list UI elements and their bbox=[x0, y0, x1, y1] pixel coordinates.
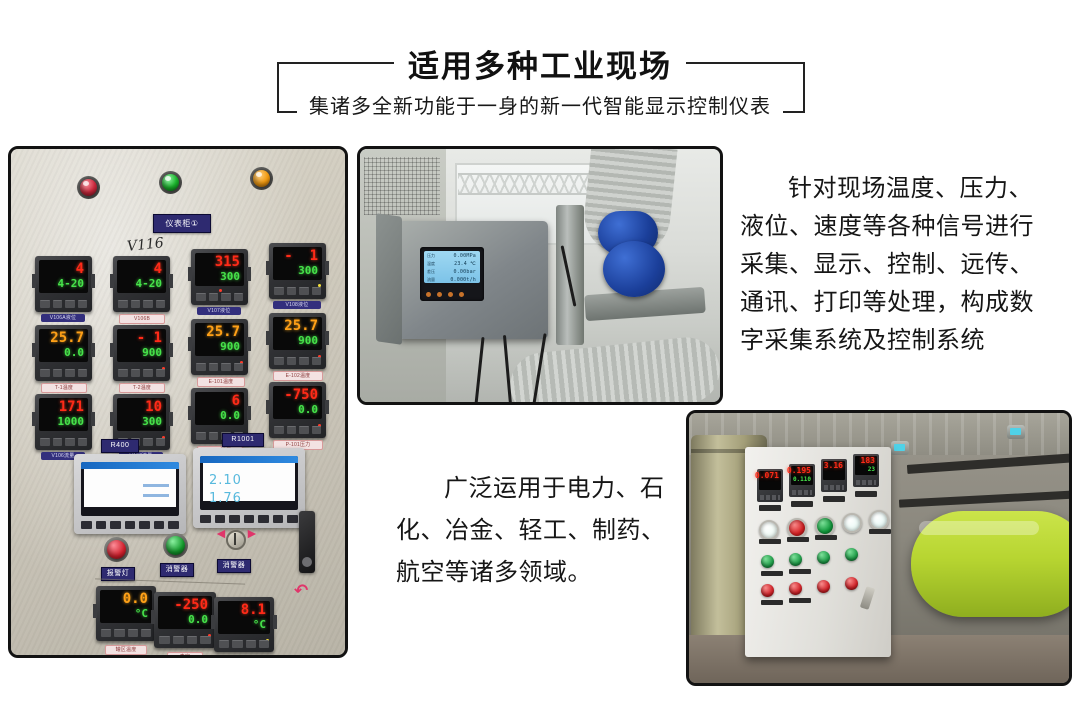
start-button-green[interactable] bbox=[845, 548, 858, 561]
stop-button-red[interactable] bbox=[761, 584, 774, 597]
button-label bbox=[761, 600, 783, 605]
explosion-proof-light bbox=[891, 441, 909, 455]
start-button-green[interactable] bbox=[817, 551, 830, 564]
meter-tag: V106B bbox=[119, 314, 165, 324]
lamp-label bbox=[787, 537, 809, 542]
meter-module[interactable]: - 1300 bbox=[269, 243, 326, 299]
indicator-lamp-green[interactable] bbox=[815, 516, 835, 536]
flow-computer-keypad[interactable] bbox=[426, 292, 464, 297]
alarm-reset-selector[interactable] bbox=[226, 530, 246, 550]
photo-field-flowmeter[interactable]: 压力 0.00MPa 温度 23.4 ℃ 差压 0.00bar 流量 0.000… bbox=[357, 146, 723, 405]
lcd-value: 0.00MPa bbox=[454, 253, 476, 259]
flow-computer[interactable]: 压力 0.00MPa 温度 23.4 ℃ 差压 0.00bar 流量 0.000… bbox=[420, 247, 484, 301]
alarm-lamp-red[interactable] bbox=[80, 179, 97, 196]
meter-module[interactable]: - 1900 bbox=[113, 325, 170, 381]
meter-tag bbox=[855, 491, 877, 497]
alarm-reset-label: 消警器 bbox=[217, 559, 251, 573]
meter-sv: 0.110 bbox=[793, 476, 811, 483]
page-header: 适用多种工业现场 集诸多全新功能于一身的新一代智能显示控制仪表 bbox=[0, 0, 1080, 140]
flowmeter-enclosure[interactable]: 压力 0.00MPa 温度 23.4 ℃ 差压 0.00bar 流量 0.000… bbox=[398, 221, 548, 339]
meter-tag: 罐区温度 bbox=[105, 645, 147, 655]
paperless-recorder[interactable]: 2.10 1.76 bbox=[193, 448, 305, 528]
lcd-label: 流量 bbox=[427, 277, 435, 283]
meter-pv: 3.16 bbox=[824, 461, 843, 470]
meter-module[interactable]: 1711000 bbox=[35, 394, 92, 450]
meter-pv: 183 bbox=[861, 456, 875, 465]
stop-button-red[interactable] bbox=[845, 577, 858, 590]
indicator-lamp-white[interactable] bbox=[842, 513, 862, 533]
indicator-lamp-red[interactable] bbox=[787, 518, 807, 538]
meter-module[interactable]: 25.7900 bbox=[191, 319, 248, 375]
meter-module[interactable]: 8.1°C bbox=[214, 597, 274, 652]
lamp-label bbox=[759, 539, 781, 544]
meter-tag: T-1温度 bbox=[41, 383, 87, 393]
meter-tag bbox=[759, 505, 781, 511]
meter-module[interactable]: 25.70.0 bbox=[35, 325, 92, 381]
page-subtitle-text: 集诸多全新功能于一身的新一代智能显示控制仪表 bbox=[297, 93, 783, 121]
alarm-indicator[interactable] bbox=[107, 540, 126, 559]
alarm-silence-label: 消警器 bbox=[160, 563, 194, 577]
enclosure-open-door bbox=[376, 213, 402, 345]
meter-tag: V107液位 bbox=[197, 307, 241, 315]
indicator-lamp-white[interactable] bbox=[869, 510, 889, 530]
meter-module[interactable]: -7500.0 bbox=[269, 382, 326, 438]
lcd-value: 0.000t/h bbox=[450, 277, 476, 283]
lcd-label: 压力 bbox=[427, 253, 435, 259]
meter-pv: 0.071 bbox=[755, 471, 779, 480]
button-label bbox=[761, 571, 783, 576]
meter-tag: V106A液位 bbox=[41, 314, 85, 322]
meter-sv: 23 bbox=[868, 466, 875, 473]
meter-module[interactable]: 44-20 bbox=[35, 256, 92, 312]
description-right-line: 通讯、打印等处理，构成数 bbox=[740, 284, 1066, 322]
meter-tag: V108液位 bbox=[273, 301, 321, 309]
lcd-label: 温度 bbox=[427, 261, 435, 267]
meter-tag bbox=[823, 496, 845, 502]
green-pressure-vessel bbox=[911, 511, 1069, 617]
arrow-right-icon: ► bbox=[245, 526, 259, 540]
meter-module[interactable]: 0.195 0.110 bbox=[789, 464, 815, 497]
meter-module[interactable]: 315300 bbox=[191, 249, 248, 305]
description-right-line: 液位、速度等各种信号进行 bbox=[740, 208, 1066, 246]
meter-tag: E-102温度 bbox=[273, 371, 323, 381]
page-subtitle: 集诸多全新功能于一身的新一代智能显示控制仪表 bbox=[0, 93, 1080, 121]
recorder-plate: R1001 bbox=[222, 433, 264, 447]
status-lamp-orange[interactable] bbox=[253, 170, 270, 187]
start-button-green[interactable] bbox=[789, 553, 802, 566]
meter-pv: 0.195 bbox=[787, 466, 811, 475]
description-right-line: 针对现场温度、压力、 bbox=[740, 170, 1066, 208]
lamp-label bbox=[869, 529, 891, 534]
indicator-lamp-white[interactable] bbox=[759, 520, 779, 540]
arrow-curve-icon: ↶ bbox=[294, 584, 308, 598]
door-handle[interactable] bbox=[299, 511, 315, 573]
meter-tag bbox=[791, 501, 813, 507]
description-right-line: 采集、显示、控制、远传、 bbox=[740, 246, 1066, 284]
cabinet-key-switch[interactable] bbox=[860, 586, 875, 610]
blue-transmitter-lower bbox=[603, 241, 665, 297]
recorder-plate: R400 bbox=[101, 439, 139, 453]
explosion-proof-light bbox=[1007, 425, 1025, 439]
meter-module[interactable]: 3.16 bbox=[821, 459, 847, 492]
alarm-silence-button[interactable] bbox=[166, 536, 185, 555]
page-title-text: 适用多种工业现场 bbox=[394, 48, 686, 86]
stop-button-red[interactable] bbox=[789, 582, 802, 595]
recorder-value: 2.10 bbox=[209, 473, 242, 488]
photo-vessel-control-cabinet[interactable]: 0.071 0.195 0.110 3.16 183 23 bbox=[686, 410, 1072, 686]
paperless-recorder[interactable] bbox=[74, 454, 186, 534]
meter-module[interactable]: 0.0°C bbox=[96, 586, 156, 641]
lcd-value: 23.4 ℃ bbox=[454, 261, 476, 267]
page-title: 适用多种工业现场 bbox=[0, 48, 1080, 86]
lcd-label: 差压 bbox=[427, 269, 435, 275]
lamp-label bbox=[815, 535, 837, 540]
description-middle: 广泛运用于电力、石 化、冶金、轻工、制药、 航空等诸多领域。 bbox=[396, 468, 686, 594]
description-right: 针对现场温度、压力、 液位、速度等各种信号进行 采集、显示、控制、远传、 通讯、… bbox=[740, 170, 1066, 360]
button-label bbox=[789, 569, 811, 574]
meter-module[interactable]: 44-20 bbox=[113, 256, 170, 312]
button-label bbox=[789, 598, 811, 603]
stop-button-red[interactable] bbox=[817, 580, 830, 593]
start-button-green[interactable] bbox=[761, 555, 774, 568]
meter-tag: 真空 bbox=[167, 652, 203, 655]
description-middle-line: 广泛运用于电力、石 bbox=[396, 468, 686, 510]
description-middle-line: 化、冶金、轻工、制药、 bbox=[396, 510, 686, 552]
description-middle-line: 航空等诸多领域。 bbox=[396, 552, 686, 594]
meter-tag: T-2温度 bbox=[119, 383, 165, 393]
meter-tag: E-101温度 bbox=[197, 377, 245, 387]
description-right-line: 字采集系统及控制系统 bbox=[740, 322, 1066, 360]
meter-module[interactable]: -2500.0 bbox=[154, 592, 216, 648]
meter-module[interactable]: 0.071 bbox=[757, 469, 783, 502]
recorder-value: 1.76 bbox=[209, 491, 242, 506]
photo-instrument-cabinet[interactable]: 仪表柜① V116 44-20 V106A液位 44-20 V106B 3153… bbox=[8, 146, 348, 658]
roof-truss bbox=[458, 173, 598, 195]
meter-module[interactable]: 183 23 bbox=[853, 454, 879, 487]
field-control-cabinet[interactable]: 0.071 0.195 0.110 3.16 183 23 bbox=[745, 447, 891, 657]
flow-computer-lcd: 压力 0.00MPa 温度 23.4 ℃ 差压 0.00bar 流量 0.000… bbox=[424, 251, 480, 283]
lcd-value: 0.00bar bbox=[454, 269, 476, 275]
meter-module[interactable]: 25.7900 bbox=[269, 313, 326, 369]
cabinet-name-plate: 仪表柜① bbox=[153, 214, 211, 233]
run-lamp-green[interactable] bbox=[162, 174, 179, 191]
